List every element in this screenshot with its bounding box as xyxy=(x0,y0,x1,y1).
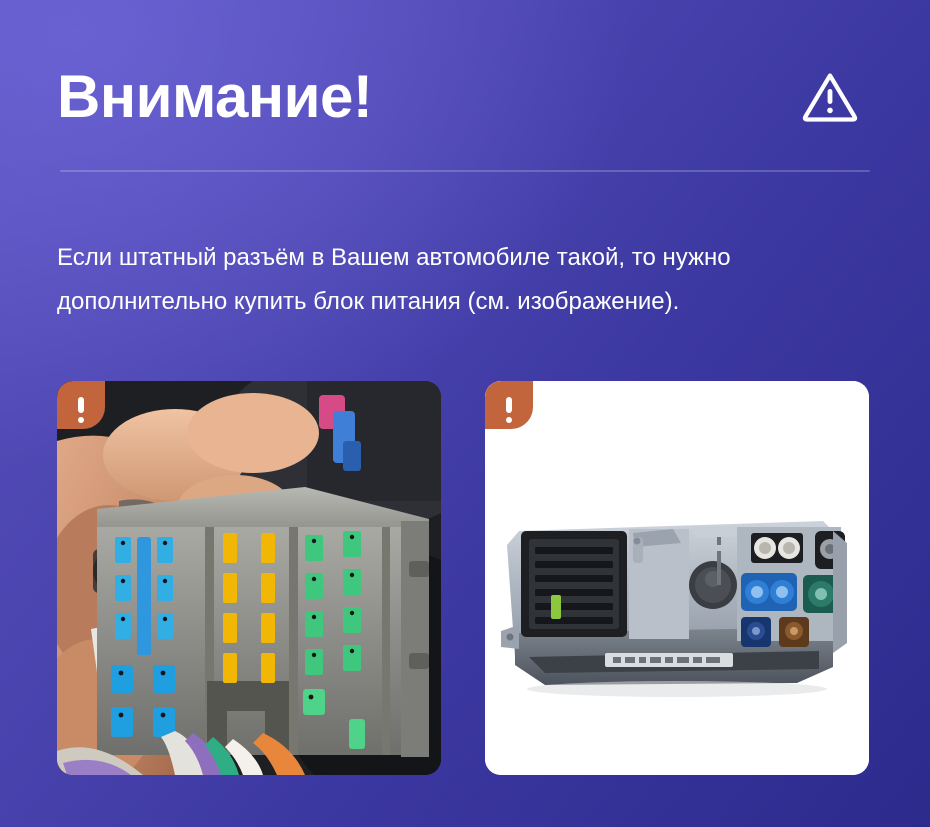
power-supply-photo xyxy=(485,381,869,775)
page-title: Внимание! xyxy=(57,67,372,127)
page-header: Внимание! xyxy=(57,52,869,142)
connector-photo xyxy=(57,381,441,775)
exclamation-badge-icon xyxy=(57,381,105,429)
image-card-row xyxy=(57,381,869,775)
connector-photo-card[interactable] xyxy=(57,381,441,775)
exclamation-badge-icon xyxy=(485,381,533,429)
exclamation-mark xyxy=(506,397,512,413)
notice-paragraph: Если штатный разъём в Вашем автомобиле т… xyxy=(57,236,871,324)
warning-triangle-icon xyxy=(799,66,861,128)
header-divider xyxy=(60,170,870,172)
power-supply-photo-card[interactable] xyxy=(485,381,869,775)
notice-line-2: дополнительно купить блок питания (см. и… xyxy=(57,280,871,324)
notice-line-1: Если штатный разъём в Вашем автомобиле т… xyxy=(57,244,731,271)
warning-notice-page: Внимание! Если штатный разъём в Вашем ав… xyxy=(0,0,930,827)
exclamation-mark xyxy=(78,397,84,413)
